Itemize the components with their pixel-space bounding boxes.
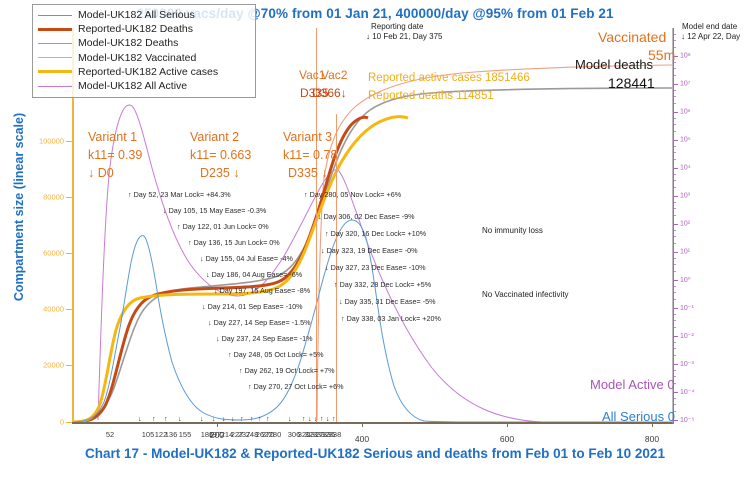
y-tick-label: 80000: [43, 193, 64, 202]
legend-item[interactable]: Model-UK182 Deaths: [38, 36, 250, 50]
variant-2-day: D235 ↓: [200, 166, 240, 180]
legend-swatch-icon: [38, 28, 72, 31]
lockdown-annotation: ↑ Day 52, 23 Mar Lock= +84.3%: [128, 190, 231, 199]
legend-label: Model-UK182 Deaths: [78, 37, 178, 49]
variant-3-name: Variant 3: [283, 130, 332, 144]
vaccinated-label: Vaccinated: [598, 29, 666, 45]
legend-item[interactable]: Reported-UK182 Deaths: [38, 22, 250, 36]
chart-legend: Model-UK182 All Serious Reported-UK182 D…: [32, 4, 256, 98]
legend-label: Model-UK182 All Active: [78, 80, 187, 92]
svg-text:↓: ↓: [222, 416, 226, 423]
x-tick-label: 600: [500, 434, 514, 444]
legend-item[interactable]: Model-UK182 Vaccinated: [38, 51, 250, 65]
lockdown-annotation: ↓ Day 335, 31 Dec Ease= -5%: [339, 297, 435, 306]
no-vaccinated-infectivity-note: No Vaccinated infectivity: [482, 290, 569, 299]
y-tick-right-label: 10⁻⁵: [680, 416, 694, 424]
reported-active-cases-value: Reported active cases 1851466: [368, 72, 530, 84]
y-tick-label: 20000: [43, 361, 64, 370]
x-day-label: 105: [142, 430, 155, 439]
y-tick-right-label: 10⁸: [680, 53, 691, 60]
y-tick-right-label: 10⁰: [680, 276, 691, 284]
vac2-label: Vac2: [321, 68, 347, 82]
chart-caption: Chart 17 - Model-UK182 & Reported-UK182 …: [0, 446, 750, 461]
svg-text:↓: ↓: [138, 416, 142, 423]
legend-swatch-icon: [38, 15, 72, 16]
y-tick-label: 100000: [39, 137, 64, 146]
svg-text:↓: ↓: [200, 416, 204, 423]
lockdown-annotation: ↑ Day 122, 01 Jun Lock= 0%: [177, 222, 269, 231]
y-tick-right-label: 10³: [680, 193, 690, 200]
vac2-day: D366↓: [312, 86, 347, 100]
lockdown-annotation: ↑ Day 332, 28 Dec Lock= +5%: [334, 280, 431, 289]
lockdown-annotation: ↓ Day 197, 15 Aug Ease= -8%: [214, 286, 310, 295]
svg-text:↑: ↑: [258, 416, 262, 423]
legend-label: Model-UK182 All Serious: [78, 9, 195, 21]
x-day-label: 338: [329, 430, 342, 439]
legend-swatch-icon: [38, 86, 72, 87]
variant-3-k11: k11= 0.78: [283, 148, 337, 162]
lockdown-annotation: ↑ Day 270, 27 Oct Lock= +6%: [248, 382, 344, 391]
y-tick-right-label: 10⁵: [680, 137, 691, 144]
lockdown-annotation: ↑ Day 248, 05 Oct Lock= +5%: [228, 350, 324, 359]
variant-1-name: Variant 1: [88, 130, 137, 144]
lockdown-annotation: ↓ Day 323, 19 Dec Ease= -0%: [321, 246, 417, 255]
svg-text:↓: ↓: [231, 416, 235, 423]
y-tick-right-label: 10⁻³: [680, 360, 694, 368]
y-tick-label: 60000: [43, 249, 64, 258]
svg-text:↑: ↑: [240, 416, 244, 423]
variant-3-day: D335 ↓: [288, 166, 328, 180]
x-day-label: 155: [179, 430, 192, 439]
lockdown-annotation: ↓ Day 105, 15 May Ease= -0.3%: [163, 206, 266, 215]
lockdown-annotation: ↓ Day 155, 04 Jul Ease= -4%: [200, 254, 293, 263]
x-tick-label: 800: [645, 434, 659, 444]
legend-item[interactable]: Model-UK182 All Active: [38, 79, 250, 93]
svg-text:↓: ↓: [308, 416, 312, 423]
svg-text:↓: ↓: [212, 416, 216, 423]
svg-text:↑: ↑: [250, 416, 254, 423]
legend-item[interactable]: Model-UK182 All Serious: [38, 8, 250, 22]
all-serious-end-value: All Serious 0: [602, 409, 675, 424]
model-deaths-label: Model deaths: [575, 57, 653, 72]
lockdown-annotation: ↓ Day 214, 01 Sep Ease= -10%: [202, 302, 303, 311]
svg-text:↓: ↓: [178, 416, 182, 423]
x-day-label: 197: [209, 430, 222, 439]
svg-text:↑: ↑: [302, 416, 306, 423]
reporting-date-label: Reporting date: [371, 22, 423, 31]
model-end-date-label: Model end date: [682, 22, 737, 31]
reporting-date-value: ↓ 10 Feb 21, Day 375: [366, 32, 443, 41]
y-tick-label: 40000: [43, 305, 64, 314]
lockdown-annotation: ↑ Day 338, 03 Jan Lock= +20%: [341, 314, 441, 323]
lockdown-annotation: ↑ Day 320, 16 Dec Lock= +10%: [325, 229, 426, 238]
y-tick-right-label: 10⁻²: [680, 332, 694, 340]
y-tick-right-label: 10⁻¹: [680, 304, 694, 312]
chart-root: 250000 vacs/day @70% from 01 Jan 21, 400…: [0, 0, 750, 478]
lockdown-annotation: ↓ Day 327, 23 Dec Ease= -10%: [325, 263, 425, 272]
svg-text:↑: ↑: [332, 416, 336, 423]
reported-deaths-value: Reported deaths 114851: [368, 90, 494, 102]
svg-text:↑: ↑: [320, 416, 324, 423]
model-end-date-value: ↓ 12 Apr 22, Day: [681, 32, 740, 41]
y-tick-right-label: 10²: [680, 221, 690, 228]
legend-swatch-icon: [38, 70, 72, 73]
svg-text:↑: ↑: [164, 416, 168, 423]
x-day-label: 136: [165, 430, 178, 439]
lockdown-annotation: ↓ Day 227, 14 Sep Ease= -1.5%: [208, 318, 311, 327]
legend-swatch-icon: [38, 43, 72, 44]
variant-1-day: ↓ D0: [88, 166, 114, 180]
legend-label: Model-UK182 Vaccinated: [78, 52, 196, 64]
variant-2-k11: k11= 0.663: [190, 148, 251, 162]
svg-text:↑: ↑: [152, 416, 156, 423]
legend-item[interactable]: Reported-UK182 Active cases: [38, 65, 250, 79]
y-tick-right-label: 10⁻⁴: [680, 388, 695, 396]
series-model-vaccinated: [317, 65, 672, 420]
svg-text:↑: ↑: [266, 416, 270, 423]
y-tick-right-label: 10⁷: [680, 81, 690, 88]
lockdown-annotation: ↓ Day 186, 04 Aug Ease= -6%: [206, 270, 302, 279]
legend-label: Reported-UK182 Deaths: [78, 23, 193, 35]
lockdown-annotation: ↑ Day 280, 05 Nov Lock= +6%: [304, 190, 401, 199]
lockdown-annotation: ↓ Day 237, 24 Sep Ease= -1%: [216, 334, 313, 343]
y-tick-label: 0: [60, 418, 64, 427]
model-end-marker-line: [672, 28, 673, 422]
x-day-label: 52: [106, 430, 114, 439]
y-tick-right-label: 10⁴: [680, 165, 691, 172]
y-tick-right-label: 10⁶: [680, 109, 691, 116]
x-axis-event-arrows: ↓↑↑ ↓↓↓ ↓↓↑ ↑↑↑ ↓↑↓ ↓↑↓ ↑: [72, 413, 674, 425]
model-deaths-value: 128441: [608, 75, 655, 91]
lockdown-annotation: ↓ Day 306, 02 Dec Ease= -9%: [318, 212, 414, 221]
lockdown-annotation: ↑ Day 262, 19 Oct Lock= +7%: [239, 366, 335, 375]
variant-2-name: Variant 2: [190, 130, 239, 144]
model-active-end-value: Model Active 0: [590, 377, 675, 392]
x-day-label: 280: [269, 430, 282, 439]
no-immunity-loss-note: No immunity loss: [482, 226, 543, 235]
y-tick-right-label: 10¹: [680, 249, 690, 256]
lockdown-annotation: ↑ Day 136, 15 Jun Lock= 0%: [188, 238, 280, 247]
svg-text:↓: ↓: [326, 416, 330, 423]
legend-swatch-icon: [38, 57, 72, 58]
svg-text:↓: ↓: [288, 416, 292, 423]
variant-1-k11: k11= 0.39: [88, 148, 142, 162]
x-tick-label: 400: [355, 434, 369, 444]
y-axis-left-title: Compartment size (linear scale): [12, 57, 26, 357]
legend-label: Reported-UK182 Active cases: [78, 66, 218, 78]
